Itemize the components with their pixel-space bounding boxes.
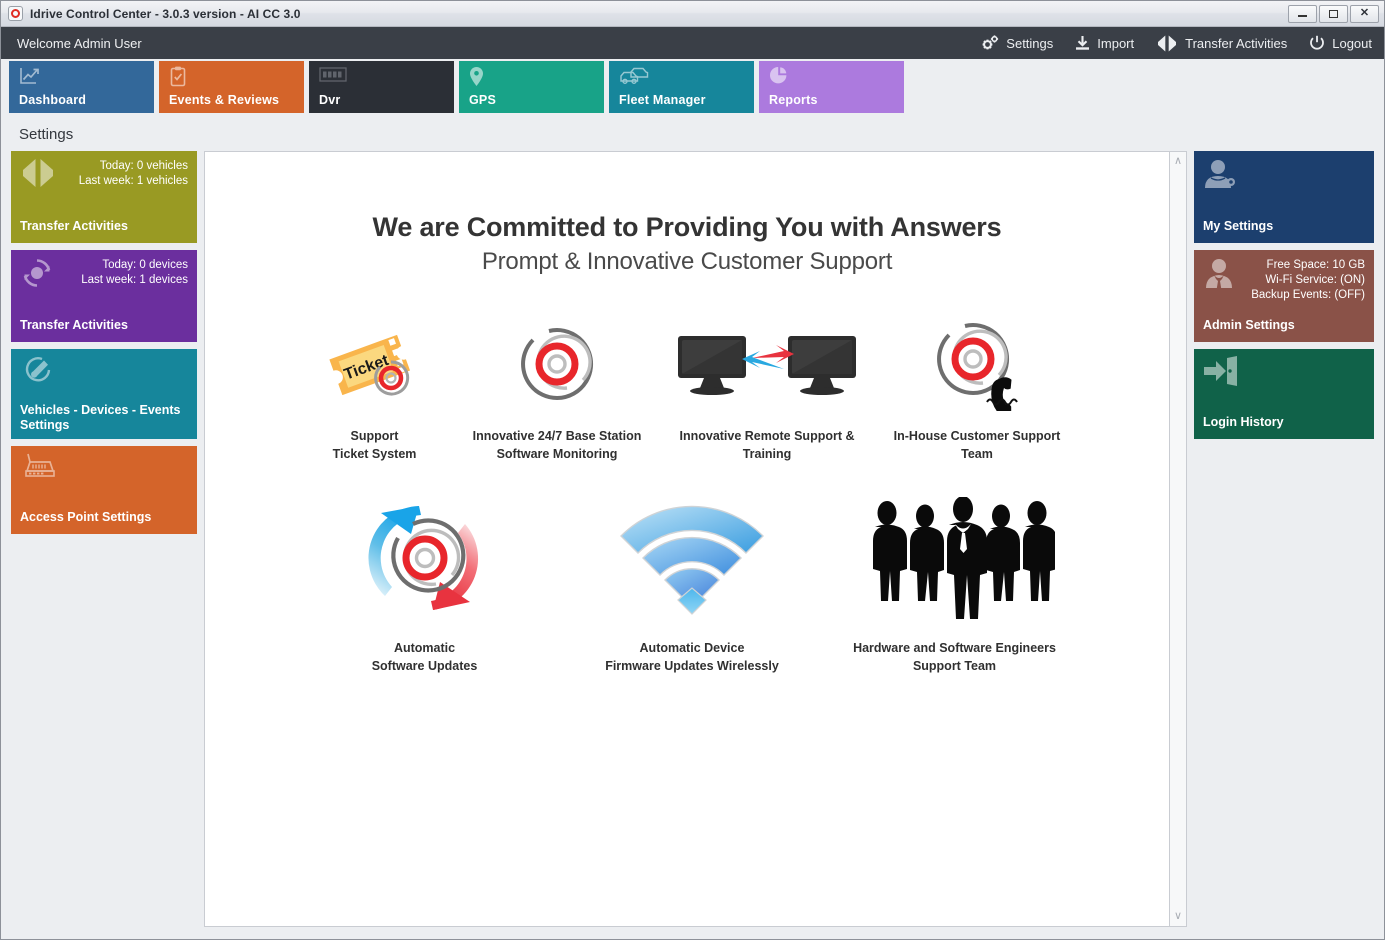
- tab-events-reviews[interactable]: Events & Reviews: [159, 61, 304, 113]
- transfer-arrows-icon: [1156, 35, 1178, 52]
- feature-base-station-monitoring: Innovative 24/7 Base Station Software Mo…: [455, 314, 660, 463]
- support-ticket-icon: Ticket: [323, 314, 427, 414]
- application-window: Idrive Control Center - 3.0.3 version - …: [0, 0, 1385, 940]
- tile-admin-settings[interactable]: Free Space: 10 GB Wi-Fi Service: (ON) Ba…: [1194, 250, 1374, 342]
- feature-automatic-software-updates: Automatic Software Updates: [297, 491, 552, 675]
- feature-caption-line1: Automatic Device: [605, 639, 779, 657]
- admin-user-icon: [1203, 257, 1237, 294]
- feature-caption-line2: Support Team: [853, 657, 1056, 675]
- tab-dvr-label: Dvr: [319, 93, 446, 107]
- team-silhouette-icon: [855, 491, 1055, 626]
- app-target-circle-icon: [8, 6, 23, 21]
- topmenu-logout-button[interactable]: Logout: [1309, 35, 1372, 51]
- hero-heading: We are Committed to Providing You with A…: [205, 212, 1169, 243]
- tile-label: My Settings: [1203, 209, 1365, 234]
- feature-caption: Automatic Software Updates: [372, 639, 478, 675]
- tab-reports-label: Reports: [769, 93, 896, 107]
- tile-login-history[interactable]: Login History: [1194, 349, 1374, 439]
- tile-stat-line: Backup Events: (OFF): [1251, 288, 1365, 303]
- feature-remote-support-training: Innovative Remote Support & Training: [660, 314, 875, 463]
- tab-events-reviews-label: Events & Reviews: [169, 93, 296, 107]
- top-menu-bar: Welcome Admin User: [1, 27, 1384, 59]
- feature-caption: Innovative 24/7 Base Station Software Mo…: [473, 427, 642, 463]
- tile-stat-line: Last week: 1 vehicles: [79, 174, 188, 189]
- software-update-icon: [335, 491, 515, 626]
- scroll-down-icon[interactable]: ∨: [1174, 911, 1182, 922]
- tile-label: Transfer Activities: [20, 209, 188, 234]
- router-icon: [20, 453, 60, 488]
- tile-my-settings[interactable]: My Settings: [1194, 151, 1374, 243]
- topmenu-import-label: Import: [1097, 36, 1134, 51]
- center-column: We are Committed to Providing You with A…: [204, 151, 1187, 927]
- tab-dvr[interactable]: Dvr: [309, 61, 454, 113]
- tile-transfer-activities-devices[interactable]: Today: 0 devices Last week: 1 devices Tr…: [11, 250, 197, 342]
- main-navigation-tabs: Dashboard Events & Reviews: [1, 59, 1384, 117]
- feature-caption-line2: Firmware Updates Wirelessly: [605, 657, 779, 675]
- feature-caption-line1: Support: [333, 427, 417, 445]
- feature-caption-line1: Innovative 24/7 Base Station: [473, 427, 642, 445]
- feature-row-2: Automatic Software Updates: [205, 491, 1169, 675]
- map-pin-icon: [469, 66, 596, 88]
- window-controls: ✕: [1288, 5, 1384, 23]
- wifi-icon: [617, 491, 767, 626]
- feature-caption-line1: In-House Customer Support: [894, 427, 1061, 445]
- maximize-icon[interactable]: [1319, 5, 1348, 23]
- breadcrumb: Settings: [1, 117, 1384, 151]
- feature-row-1: Ticket Support Ticket S: [205, 314, 1169, 463]
- topmenu-import-button[interactable]: Import: [1075, 35, 1134, 51]
- tile-label: Login History: [1203, 405, 1365, 430]
- feature-device-firmware-updates: Automatic Device Firmware Updates Wirele…: [552, 491, 832, 675]
- tab-gps[interactable]: GPS: [459, 61, 604, 113]
- tile-label: Access Point Settings: [20, 500, 188, 525]
- tile-transfer-activities-vehicles[interactable]: Today: 0 vehicles Last week: 1 vehicles …: [11, 151, 197, 243]
- feature-caption-line2: Training: [679, 445, 854, 463]
- tab-reports[interactable]: Reports: [759, 61, 904, 113]
- breadcrumb-label: Settings: [19, 126, 73, 143]
- body-area: Today: 0 vehicles Last week: 1 vehicles …: [1, 151, 1384, 939]
- topmenu-transfer-activities-button[interactable]: Transfer Activities: [1156, 35, 1287, 52]
- feature-in-house-support-team: In-House Customer Support Team: [875, 314, 1080, 463]
- topmenu-settings-button[interactable]: Settings: [981, 35, 1053, 51]
- chart-trend-icon: [19, 66, 146, 88]
- tile-stat-line: Last week: 1 devices: [81, 273, 188, 288]
- tile-stat-line: Today: 0 devices: [81, 258, 188, 273]
- device-sync-icon: [20, 257, 54, 294]
- content-panel: We are Committed to Providing You with A…: [204, 151, 1170, 927]
- topmenu-transfer-activities-label: Transfer Activities: [1185, 36, 1287, 51]
- hero-subheading: Prompt & Innovative Customer Support: [205, 248, 1169, 276]
- tile-stats: Today: 0 devices Last week: 1 devices: [81, 257, 188, 288]
- clipboard-check-icon: [169, 66, 296, 88]
- tab-fleet-manager-label: Fleet Manager: [619, 93, 746, 107]
- title-bar: Idrive Control Center - 3.0.3 version - …: [1, 1, 1384, 27]
- feature-caption: Automatic Device Firmware Updates Wirele…: [605, 639, 779, 675]
- feature-caption: Innovative Remote Support & Training: [679, 427, 854, 463]
- minimize-icon[interactable]: [1288, 5, 1317, 23]
- scroll-up-icon[interactable]: ∧: [1174, 156, 1182, 167]
- tab-fleet-manager[interactable]: Fleet Manager: [609, 61, 754, 113]
- transfer-arrows-icon: [20, 158, 56, 193]
- top-menu-items: Settings Import Transf: [981, 35, 1372, 52]
- feature-caption-line1: Hardware and Software Engineers: [853, 639, 1056, 657]
- monitoring-target-icon: [512, 314, 602, 414]
- login-door-icon: [1203, 356, 1239, 391]
- feature-hardware-software-engineers: Hardware and Software Engineers Support …: [832, 491, 1077, 675]
- left-tile-column: Today: 0 vehicles Last week: 1 vehicles …: [11, 151, 197, 927]
- feature-caption-line2: Ticket System: [333, 445, 417, 463]
- close-icon[interactable]: ✕: [1350, 5, 1379, 23]
- feature-caption: Hardware and Software Engineers Support …: [853, 639, 1056, 675]
- download-icon: [1075, 35, 1090, 51]
- remote-monitors-icon: [672, 314, 862, 414]
- right-tile-column: My Settings Free Space: 10 GB Wi: [1194, 151, 1374, 927]
- tile-access-point-settings[interactable]: Access Point Settings: [11, 446, 197, 534]
- tile-stats: Today: 0 vehicles Last week: 1 vehicles: [79, 158, 188, 189]
- support-phone-icon: [925, 314, 1029, 414]
- tab-dashboard[interactable]: Dashboard: [9, 61, 154, 113]
- feature-caption-line1: Automatic: [372, 639, 478, 657]
- feature-caption-line2: Software Monitoring: [473, 445, 642, 463]
- gears-icon: [981, 35, 999, 51]
- feature-caption-line2: Software Updates: [372, 657, 478, 675]
- topmenu-logout-label: Logout: [1332, 36, 1372, 51]
- feature-caption-line2: Team: [894, 445, 1061, 463]
- wrench-icon: [20, 356, 54, 393]
- tile-stat-line: Free Space: 10 GB: [1251, 258, 1365, 273]
- tile-stat-line: Wi-Fi Service: (ON): [1251, 273, 1365, 288]
- topmenu-settings-label: Settings: [1006, 36, 1053, 51]
- pie-chart-icon: [769, 66, 896, 88]
- tab-dashboard-label: Dashboard: [19, 93, 146, 107]
- tile-vehicles-devices-events-settings[interactable]: Vehicles - Devices - Events Settings: [11, 349, 197, 439]
- tab-gps-label: GPS: [469, 93, 596, 107]
- user-gear-icon: [1203, 158, 1239, 195]
- window-title: Idrive Control Center - 3.0.3 version - …: [30, 7, 301, 21]
- feature-caption: Support Ticket System: [333, 427, 417, 463]
- tile-label: Admin Settings: [1203, 308, 1365, 333]
- tile-stats: Free Space: 10 GB Wi-Fi Service: (ON) Ba…: [1251, 257, 1365, 303]
- dvr-icon: [319, 66, 446, 88]
- tile-label: Vehicles - Devices - Events Settings: [20, 393, 188, 433]
- feature-support-ticket-system: Ticket Support Ticket S: [295, 314, 455, 463]
- feature-caption-line1: Innovative Remote Support &: [679, 427, 854, 445]
- content-scrollbar[interactable]: ∧ ∨: [1170, 151, 1187, 927]
- tile-stat-line: Today: 0 vehicles: [79, 159, 188, 174]
- feature-caption: In-House Customer Support Team: [894, 427, 1061, 463]
- hero-section: We are Committed to Providing You with A…: [205, 152, 1169, 276]
- welcome-label: Welcome Admin User: [17, 36, 142, 51]
- vehicles-icon: [619, 66, 746, 88]
- tile-label: Transfer Activities: [20, 308, 188, 333]
- power-icon: [1309, 35, 1325, 51]
